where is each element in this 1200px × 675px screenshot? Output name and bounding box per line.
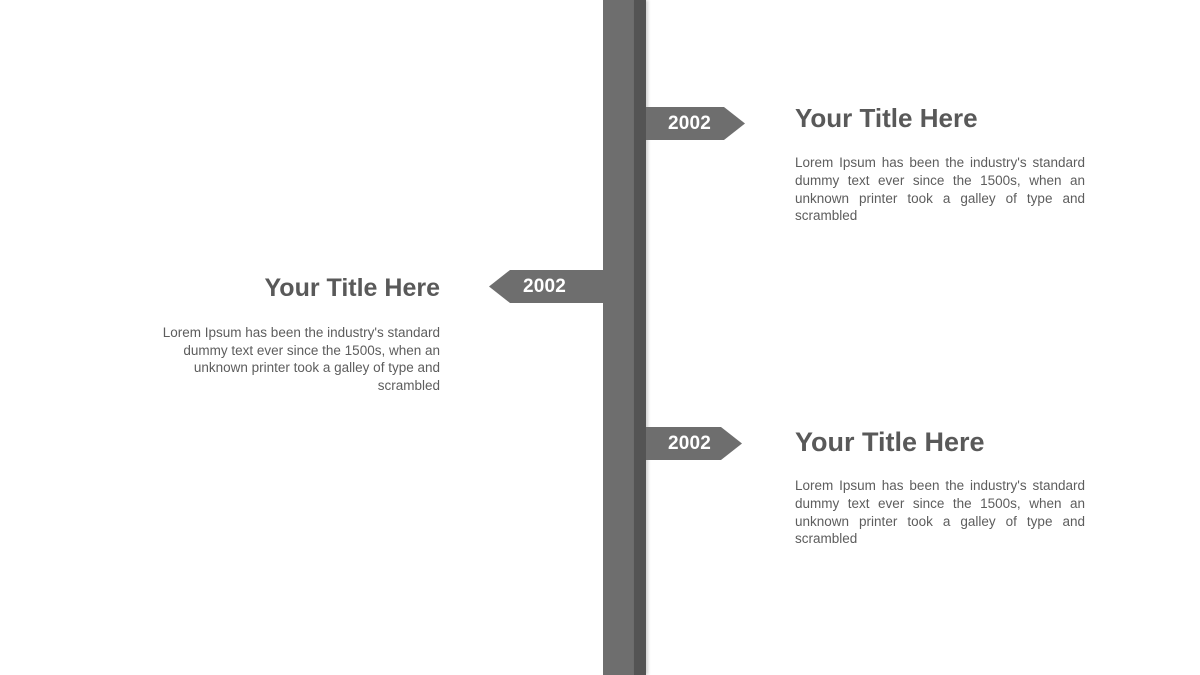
entry-title-bottom: Your Title Here <box>795 427 1085 458</box>
entry-title-middle: Your Title Here <box>145 274 440 303</box>
year-marker-middle[interactable]: 2002 <box>489 270 603 303</box>
year-label-bottom: 2002 <box>668 434 711 453</box>
timeline-entry-top: Your Title Here Lorem Ipsum has been the… <box>795 104 1085 225</box>
year-marker-top[interactable]: 2002 <box>646 107 745 140</box>
timeline-entry-bottom: Your Title Here Lorem Ipsum has been the… <box>795 427 1085 548</box>
entry-body-top: Lorem Ipsum has been the industry's stan… <box>795 154 1085 225</box>
year-marker-bottom[interactable]: 2002 <box>646 427 742 460</box>
entry-body-middle: Lorem Ipsum has been the industry's stan… <box>145 324 440 395</box>
timeline-entry-middle: Your Title Here Lorem Ipsum has been the… <box>145 274 440 395</box>
entry-title-top: Your Title Here <box>795 104 1085 134</box>
entry-body-bottom: Lorem Ipsum has been the industry's stan… <box>795 477 1085 548</box>
year-label-top: 2002 <box>668 114 711 133</box>
year-label-middle: 2002 <box>523 277 566 296</box>
timeline-spine-dark <box>634 0 646 675</box>
timeline-slide: 2002 Your Title Here Lorem Ipsum has bee… <box>0 0 1200 675</box>
timeline-spine-light <box>603 0 634 675</box>
